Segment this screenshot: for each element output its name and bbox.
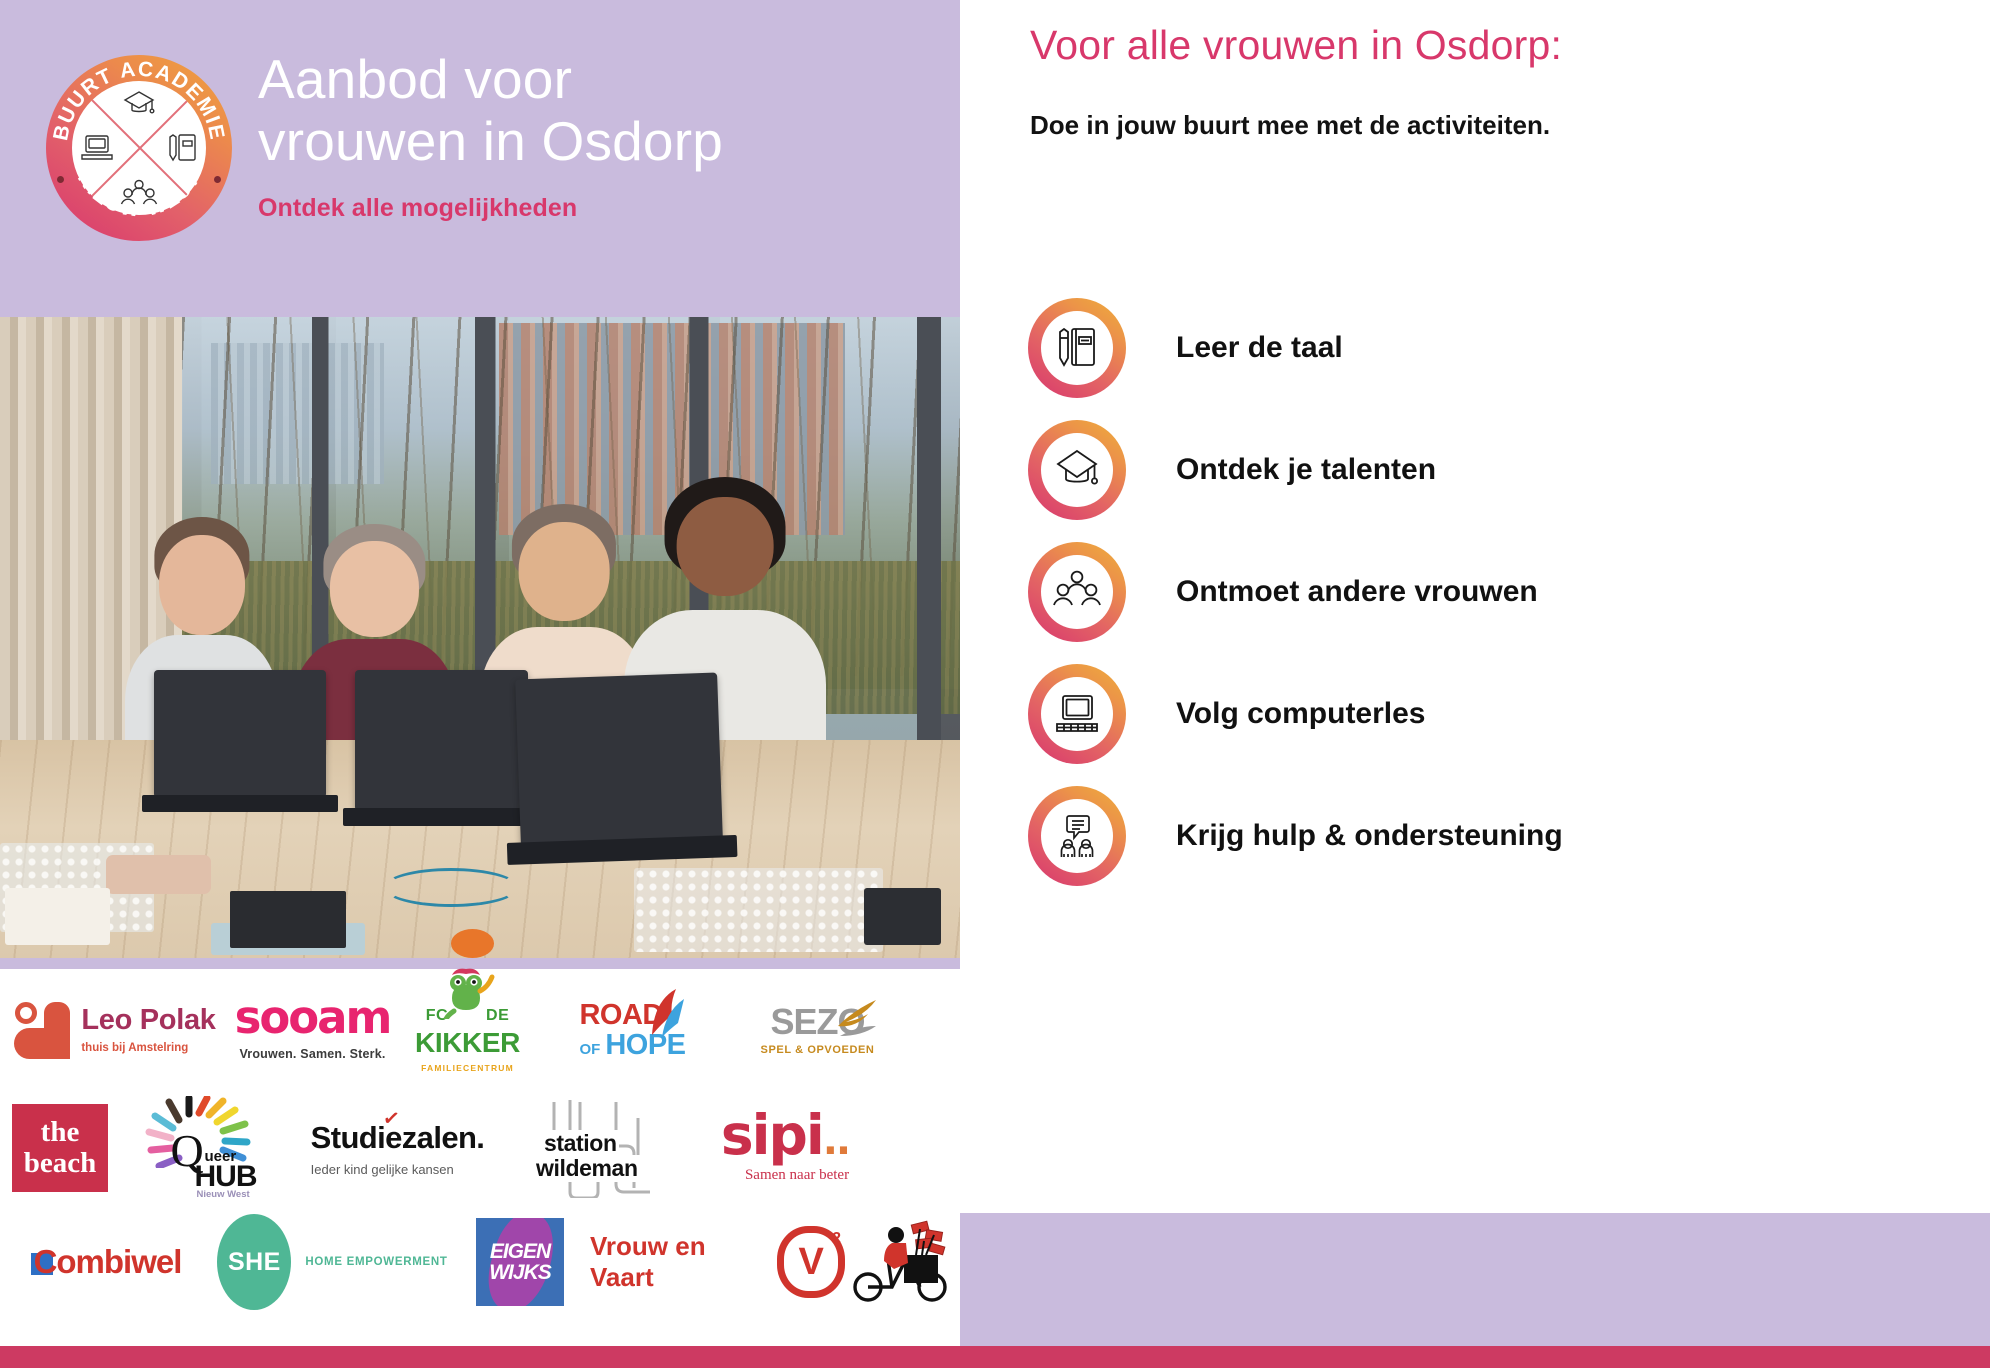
benefit-item[interactable]: Leer de taal bbox=[1028, 287, 1928, 409]
partner-logo-bakfiets[interactable] bbox=[845, 1207, 955, 1317]
benefit-item[interactable]: Volg computerles bbox=[1028, 653, 1928, 775]
sooam-tagline: Vrouwen. Samen. Sterk. bbox=[235, 1047, 391, 1061]
speech-bubble-people-icon bbox=[1053, 813, 1101, 859]
page-title-line2: vrouwen in Osdorp bbox=[258, 110, 918, 172]
benefit-icon-ring bbox=[1028, 664, 1126, 764]
eigenwijks-line2: WIJKS bbox=[489, 1262, 551, 1283]
vrouw-en-vaart-v-icon: V2 bbox=[777, 1226, 845, 1298]
studiezalen-check-icon: ✓ bbox=[381, 1104, 400, 1131]
queer-hub-tagline: Nieuw West bbox=[197, 1189, 250, 1200]
partner-logo-leo-polak[interactable]: Leo Polak thuis bij Amstelring bbox=[0, 975, 230, 1085]
photo-pencil-case bbox=[106, 855, 212, 893]
kikker-name: KIKKER bbox=[415, 1027, 520, 1059]
partner-logo-row: Combiwel SHE HOME EMPOWERMENT EIGEN bbox=[0, 1207, 960, 1317]
partner-logo-eigenwijks[interactable]: EIGEN WIJKS bbox=[450, 1207, 590, 1317]
badge-dot-left bbox=[57, 176, 64, 183]
benefit-label: Ontdek je talenten bbox=[1176, 453, 1436, 487]
photo-scene bbox=[0, 317, 960, 958]
photo-laptop-3 bbox=[516, 673, 723, 847]
station-wildeman-line2: wildeman bbox=[534, 1155, 640, 1182]
leo-polak-mark-icon bbox=[14, 1000, 70, 1060]
partner-logo-sipi[interactable]: sipi.. Samen naar beter bbox=[690, 1093, 880, 1203]
page-subtitle: Ontdek alle mogelijkheden bbox=[258, 194, 918, 223]
studiezalen-name: Studiezalen. ✓ bbox=[311, 1120, 485, 1156]
partner-logo-she[interactable]: SHE HOME EMPOWERMENT bbox=[215, 1207, 450, 1317]
hero-photo bbox=[0, 317, 960, 958]
benefit-icon-ring bbox=[1028, 786, 1126, 886]
sipi-name: sipi.. bbox=[721, 1113, 849, 1157]
benefit-icon-ring bbox=[1028, 298, 1126, 398]
photo-head bbox=[330, 541, 418, 636]
eigenwijks-line1: EIGEN bbox=[490, 1241, 550, 1262]
leo-polak-name: Leo Polak bbox=[81, 1006, 215, 1035]
road-of-hope-swoosh-icon bbox=[640, 983, 694, 1039]
she-name: SHE bbox=[228, 1248, 281, 1277]
benefit-label: Ontmoet andere vrouwen bbox=[1176, 575, 1538, 609]
sipi-word: sipi bbox=[721, 1103, 823, 1167]
header-text-block: Aanbod voor vrouwen in Osdorp Ontdek all… bbox=[258, 48, 918, 223]
photo-power-adapter bbox=[230, 891, 345, 949]
cargo-bike-icon bbox=[852, 1219, 948, 1305]
people-group-icon bbox=[1052, 570, 1102, 614]
partner-logo-row: the beach bbox=[0, 1093, 960, 1203]
partner-logo-row: Leo Polak thuis bij Amstelring sooam Vro… bbox=[0, 975, 960, 1085]
partner-logo-sezo[interactable]: SEZO SPEL & OPVOEDEN bbox=[725, 975, 910, 1085]
benefit-icon-ring bbox=[1028, 542, 1126, 642]
partner-logo-fc-de-kikker[interactable]: FC DE KIKKER FAMILIECENTRUM bbox=[395, 975, 540, 1085]
photo-laptop-2 bbox=[355, 670, 528, 811]
purple-decor-block bbox=[960, 1213, 1990, 1346]
the-beach-line2: beach bbox=[24, 1148, 97, 1178]
photo-head bbox=[676, 497, 773, 597]
leo-polak-tagline: thuis bij Amstelring bbox=[81, 1042, 215, 1054]
bottom-accent-bar bbox=[0, 1346, 1990, 1368]
partner-logo-combiwel[interactable]: Combiwel bbox=[0, 1207, 215, 1317]
benefit-item[interactable]: Ontdek je talenten bbox=[1028, 409, 1928, 531]
studiezalen-tagline: Ieder kind gelijke kansen bbox=[311, 1162, 485, 1177]
the-beach-line1: the bbox=[24, 1117, 97, 1147]
partner-logo-queer-hub[interactable]: Q ueer HUB Nieuw West bbox=[120, 1093, 285, 1203]
book-and-pen-icon bbox=[1055, 325, 1099, 371]
right-heading: Voor alle vrouwen in Osdorp: bbox=[1030, 22, 1562, 69]
benefit-label: Leer de taal bbox=[1176, 331, 1343, 365]
benefits-list: Leer de taal Ontdek je talenten bbox=[1028, 287, 1928, 897]
benefit-label: Krijg hulp & ondersteuning bbox=[1176, 819, 1563, 853]
sezo-swirl-icon bbox=[832, 992, 884, 1042]
laptop-icon bbox=[80, 133, 114, 163]
right-column: Voor alle vrouwen in Osdorp: Doe in jouw… bbox=[960, 0, 1990, 1368]
photo-head bbox=[519, 522, 610, 620]
page-title: Aanbod voor vrouwen in Osdorp bbox=[258, 48, 918, 172]
station-wildeman-line1: station bbox=[542, 1130, 619, 1157]
header-band: BUURT ACADEMIE NIEUW-WEST bbox=[0, 0, 960, 317]
sipi-tagline: Samen naar beter bbox=[721, 1167, 849, 1184]
combiwel-name: Combiwel bbox=[34, 1243, 182, 1281]
sooam-name: sooam bbox=[235, 999, 391, 1037]
buurt-academie-nieuw-west-badge: BUURT ACADEMIE NIEUW-WEST bbox=[46, 55, 232, 241]
badge-inner-circle bbox=[72, 81, 206, 215]
benefit-item[interactable]: Krijg hulp & ondersteuning bbox=[1028, 775, 1928, 897]
photo-notepad bbox=[5, 888, 111, 946]
poster-canvas: BUURT ACADEMIE NIEUW-WEST bbox=[0, 0, 1990, 1368]
she-tagline: HOME EMPOWERMENT bbox=[305, 1256, 447, 1268]
benefit-icon-ring bbox=[1028, 420, 1126, 520]
badge-dot-right bbox=[214, 176, 221, 183]
laptop-icon bbox=[1053, 692, 1101, 736]
photo-head bbox=[159, 535, 245, 635]
photo-cable bbox=[384, 868, 518, 906]
graduation-cap-icon bbox=[122, 89, 156, 119]
partner-logo-studiezalen[interactable]: Studiezalen. ✓ Ieder kind gelijke kansen bbox=[285, 1093, 510, 1203]
she-oval-icon: SHE bbox=[217, 1214, 291, 1310]
partner-logo-sooam[interactable]: sooam Vrouwen. Samen. Sterk. bbox=[230, 975, 395, 1085]
photo-bubblewrap-right bbox=[634, 868, 884, 951]
photo-notebook bbox=[864, 888, 941, 946]
book-and-pen-icon bbox=[166, 132, 198, 164]
benefit-label: Volg computerles bbox=[1176, 697, 1426, 731]
partner-logo-the-beach[interactable]: the beach bbox=[0, 1093, 120, 1203]
road-of-hope-of: OF bbox=[579, 1042, 600, 1057]
graduation-cap-icon bbox=[1053, 447, 1101, 493]
people-group-icon bbox=[120, 179, 158, 209]
partner-logo-station-wildeman[interactable]: station wildeman bbox=[510, 1093, 690, 1203]
kikker-tagline: FAMILIECENTRUM bbox=[415, 1063, 520, 1073]
benefit-item[interactable]: Ontmoet andere vrouwen bbox=[1028, 531, 1928, 653]
left-column: BUURT ACADEMIE NIEUW-WEST bbox=[0, 0, 960, 1368]
photo-laptop-1 bbox=[154, 670, 327, 798]
right-subheading: Doe in jouw buurt mee met de activiteite… bbox=[1030, 110, 1550, 141]
sezo-tagline: SPEL & OPVOEDEN bbox=[761, 1044, 875, 1056]
partner-logos: Leo Polak thuis bij Amstelring sooam Vro… bbox=[0, 975, 960, 1345]
partner-logo-road-of-hope[interactable]: ROAD OF HOPE bbox=[540, 975, 725, 1085]
partner-logo-vrouw-en-vaart[interactable]: Vrouw en Vaart V2 bbox=[590, 1207, 845, 1317]
sipi-dots-icon: .. bbox=[823, 1118, 849, 1164]
frog-mascot-icon bbox=[436, 967, 498, 1019]
page-title-line1: Aanbod voor bbox=[258, 48, 918, 110]
vrouw-en-vaart-name: Vrouw en Vaart bbox=[590, 1231, 765, 1293]
